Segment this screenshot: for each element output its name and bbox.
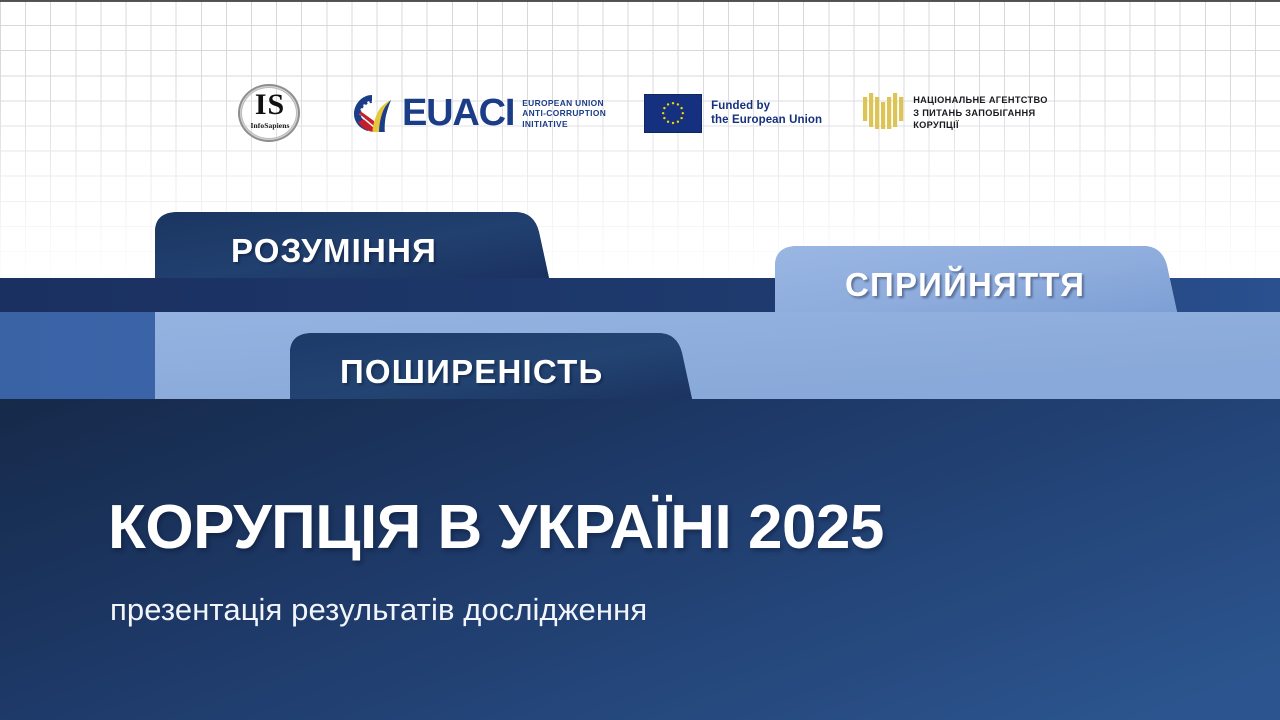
logo-nazk: НАЦІОНАЛЬНЕ АГЕНТСТВО З ПИТАНЬ ЗАПОБІГАН…: [860, 91, 1048, 135]
euaci-wordmark: EUACI: [402, 94, 514, 132]
is-monogram-letters: IS: [232, 90, 308, 120]
eu-flag-icon: [644, 94, 702, 133]
page-subtitle: презентація результатів дослідження: [110, 592, 647, 628]
title-slide: РОЗУМІННЯ СПРИЙНЯТТЯ ПОШИРЕНІСТЬ IS Info…: [0, 0, 1280, 720]
page-title: КОРУПЦІЯ В УКРАЇНІ 2025: [108, 497, 884, 559]
folder-tab-label-rozuminnia: РОЗУМІННЯ: [231, 232, 437, 270]
eu-funding-text: Funded by the European Union: [711, 99, 822, 127]
logo-eu-funding: Funded by the European Union: [644, 94, 822, 133]
partner-logo-bar: IS InfoSapiens EUACI EUROP: [232, 78, 1048, 148]
folder-tab-label-poshyrenist: ПОШИРЕНІСТЬ: [340, 353, 603, 391]
infosapiens-name: InfoSapiens: [232, 121, 308, 130]
euaci-tagline: EUROPEAN UNION ANTI-CORRUPTION INITIATIV…: [522, 97, 606, 130]
logo-infosapiens: IS InfoSapiens: [232, 82, 312, 144]
euaci-swirl-icon: [350, 93, 394, 133]
logo-euaci: EUACI EUROPEAN UNION ANTI-CORRUPTION INI…: [350, 93, 606, 133]
folder-tab-label-spryiniattia: СПРИЙНЯТТЯ: [845, 266, 1085, 304]
ukraine-trident-icon: [860, 91, 904, 135]
nazk-text: НАЦІОНАЛЬНЕ АГЕНТСТВО З ПИТАНЬ ЗАПОБІГАН…: [913, 94, 1048, 132]
